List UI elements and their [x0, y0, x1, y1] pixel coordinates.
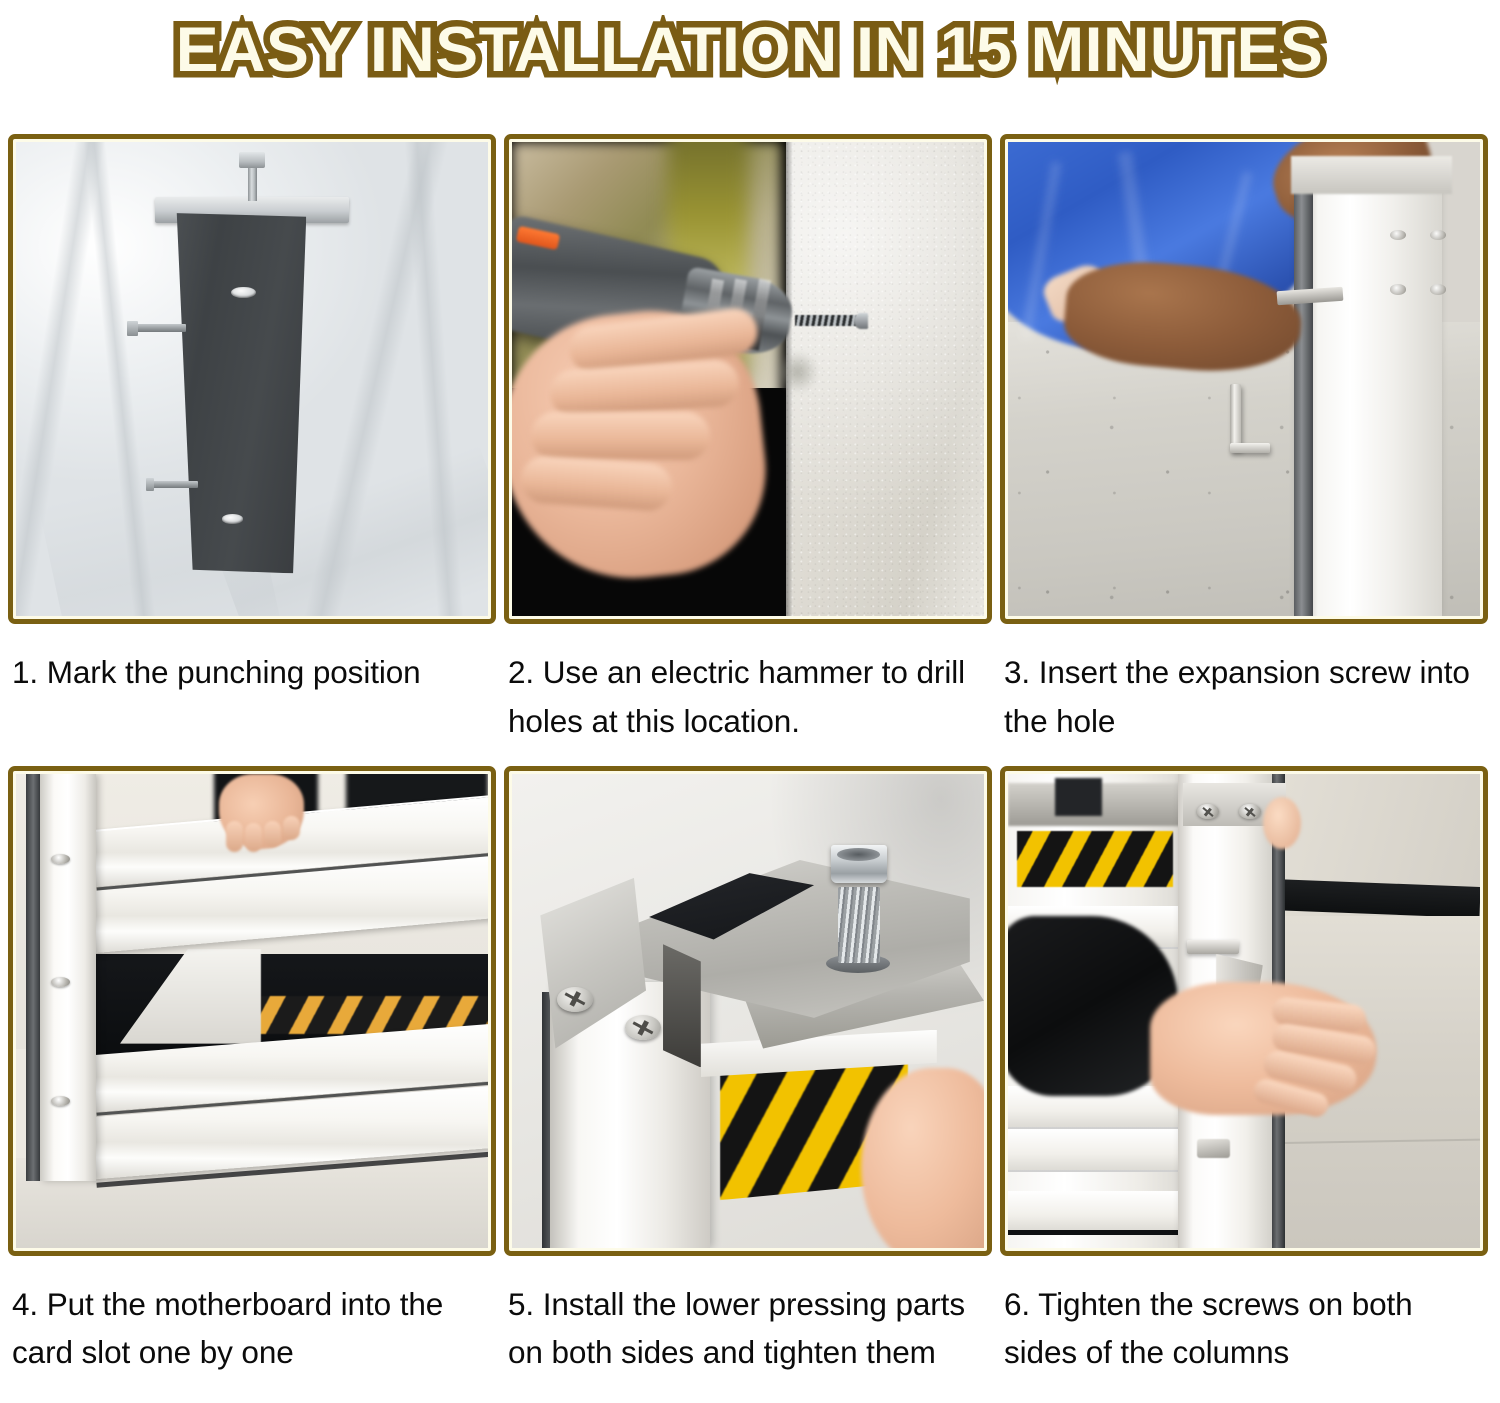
step-caption-5: 5. Install the lower pressing parts on b… [504, 1280, 984, 1378]
step-caption-4: 4. Put the motherboard into the card slo… [8, 1280, 488, 1378]
drill-dust [776, 351, 818, 394]
drill-bit [795, 315, 856, 326]
phillips-screw [625, 1015, 661, 1040]
post-cap [1291, 156, 1451, 194]
photo-electric-hammer-drilling [512, 142, 984, 616]
finger [264, 821, 281, 847]
barrier-board [1008, 1191, 1197, 1234]
step-caption-1: 1. Mark the punching position [8, 648, 488, 697]
step-card-6: 6. Tighten the screws on both sides of t… [1000, 766, 1494, 1378]
post-screw [1430, 230, 1446, 240]
step-photo-frame-5 [504, 766, 992, 1256]
post-channel [1294, 161, 1314, 616]
step-photo-frame-1 [8, 134, 496, 624]
step-photo-frame-2 [504, 134, 992, 624]
step-card-4: 4. Put the motherboard into the card slo… [8, 766, 502, 1378]
drill-bit-tip [854, 313, 868, 329]
expansion-stud-lower [146, 481, 198, 488]
aluminum-post [1301, 166, 1443, 616]
allen-wrench [1230, 384, 1241, 450]
hex-bolt-head [831, 845, 888, 883]
expansion-stud-upper [127, 324, 186, 331]
step-card-3: 3. Insert the expansion screw into the h… [1000, 134, 1494, 746]
photo-tighten-column-screws [1008, 774, 1480, 1248]
installation-guide-infographic: EASY INSTALLATION IN 15 MINUTES [0, 0, 1500, 1403]
threaded-bolt-shaft [838, 887, 880, 963]
steps-grid: 1. Mark the punching position [8, 134, 1494, 1377]
photo-install-lower-pressing-parts [512, 774, 984, 1248]
step-card-1: 1. Mark the punching position [8, 134, 502, 746]
finger [245, 823, 262, 851]
barrier-board [1008, 1129, 1197, 1172]
lower-post-screw [1197, 1139, 1230, 1158]
step-caption-3: 3. Insert the expansion screw into the h… [1000, 648, 1480, 746]
step-caption-6: 6. Tighten the screws on both sides of t… [1000, 1280, 1480, 1378]
title-banner: EASY INSTALLATION IN 15 MINUTES [0, 0, 1500, 100]
photo-insert-motherboard-card-slot [16, 774, 488, 1248]
finger [531, 412, 710, 459]
post-screw [1197, 804, 1219, 818]
allen-wrench-short-arm [1230, 443, 1270, 453]
finger [226, 821, 243, 852]
phillips-screw [557, 987, 593, 1012]
top-rail-fitting [1055, 778, 1102, 816]
step-card-5: 5. Install the lower pressing parts on b… [504, 766, 998, 1378]
page-title: EASY INSTALLATION IN 15 MINUTES [176, 14, 1324, 86]
step-card-2: 2. Use an electric hammer to drill holes… [504, 134, 998, 746]
screwdriver-tool [1187, 940, 1239, 954]
bolt-hole-upper [231, 287, 256, 298]
finger [283, 816, 300, 840]
hazard-stripe-tape [1017, 831, 1173, 888]
step-caption-2: 2. Use an electric hammer to drill holes… [504, 648, 984, 746]
thumb [1263, 797, 1301, 849]
photo-mark-punching-position [16, 142, 488, 616]
aluminum-post [40, 774, 97, 1182]
step-photo-frame-4 [8, 766, 496, 1256]
step-photo-frame-3 [1000, 134, 1488, 624]
post-screw [1390, 284, 1406, 294]
post-screw [51, 1096, 70, 1106]
bracket-lip [663, 944, 701, 1067]
post-screw [1239, 804, 1261, 818]
bolt-head [239, 152, 265, 167]
step-photo-frame-6 [1000, 766, 1488, 1256]
post-screw [1430, 284, 1446, 294]
photo-insert-expansion-screw [1008, 142, 1480, 616]
bolt-hole-lower [222, 514, 243, 523]
